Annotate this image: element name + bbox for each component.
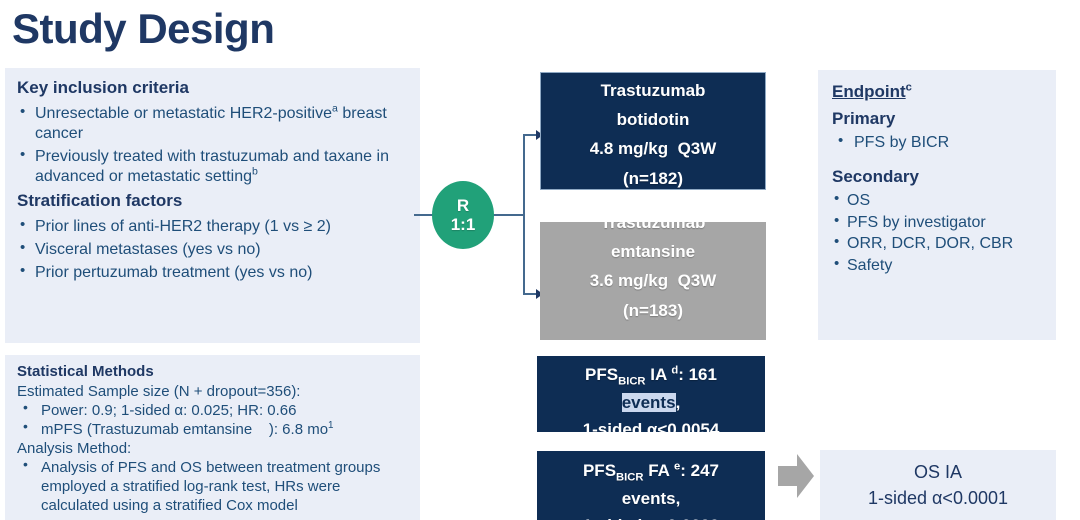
list-item: Visceral metastases (yes vs no) <box>17 240 408 260</box>
stratification-list: Prior lines of anti-HER2 therapy (1 vs ≥… <box>17 217 408 283</box>
arm-line: (n=182) <box>541 164 765 190</box>
connector-line-in <box>414 214 434 216</box>
list-item: OS <box>832 190 1042 212</box>
analysis-line: PFSBICR FA e: 247 <box>537 457 765 485</box>
arm-line: Trastuzumab <box>541 76 765 105</box>
sample-size-list: Power: 0.9; 1-sided α: 0.025; HR: 0.66 m… <box>17 401 408 439</box>
statistical-methods-panel: Statistical Methods Estimated Sample siz… <box>5 355 420 520</box>
list-item: Unresectable or metastatic HER2-positive… <box>17 104 408 144</box>
list-item: Analysis of PFS and OS between treatment… <box>17 458 408 515</box>
endpoints-title-text: Endpoint <box>832 82 906 101</box>
arm-line: emtansine <box>540 237 766 266</box>
primary-endpoint-list: PFS by BICR <box>832 132 1042 154</box>
right-arrow-icon <box>778 452 814 500</box>
list-item: Power: 0.9; 1-sided α: 0.025; HR: 0.66 <box>17 401 408 420</box>
endpoints-panel: Endpointc Primary PFS by BICR Secondary … <box>818 70 1056 340</box>
arm-line: 3.6 mg/kg Q3W <box>540 266 766 295</box>
os-ia-line: OS IA <box>914 459 962 485</box>
analysis-line: events, <box>537 389 765 417</box>
analysis-line: 1-sided α<0.0229 <box>537 512 765 520</box>
arm-line: botidotin <box>541 105 765 134</box>
analysis-method-list: Analysis of PFS and OS between treatment… <box>17 458 408 515</box>
inclusion-heading: Key inclusion criteria <box>17 78 408 98</box>
endpoints-title: Endpointc <box>832 82 1042 102</box>
list-item: ORR, DCR, DOR, CBR <box>832 233 1042 255</box>
arm-line: (n=183) <box>540 296 766 325</box>
arm-line: Trastuzumab <box>540 222 766 237</box>
experimental-arm-box: Trastuzumab botidotin 4.8 mg/kg Q3W (n=1… <box>540 72 766 190</box>
list-item: mPFS (Trastuzumab emtansine ): 6.8 mo1 <box>17 420 408 439</box>
pfs-bicr-final-analysis-box: PFSBICR FA e: 247 events, 1-sided α<0.02… <box>537 451 765 520</box>
list-item: Previously treated with trastuzumab and … <box>17 147 408 187</box>
primary-endpoint-heading: Primary <box>832 109 1042 129</box>
list-item: PFS by investigator <box>832 212 1042 234</box>
stratification-heading: Stratification factors <box>17 191 408 211</box>
analysis-line: events, <box>537 485 765 513</box>
study-design-slide: Study Design Key inclusion criteria Unre… <box>0 0 1080 520</box>
secondary-endpoint-list: OS PFS by investigator ORR, DCR, DOR, CB… <box>832 190 1042 277</box>
pfs-bicr-interim-analysis-box: PFSBICR IA d: 161 events, 1-sided α<0.00… <box>537 356 765 432</box>
os-interim-analysis-box: OS IA 1-sided α<0.0001 <box>820 450 1056 520</box>
connector-line-out <box>492 214 524 216</box>
sample-size-line: Estimated Sample size (N + dropout=356): <box>17 382 408 401</box>
comparator-arm-box: Trastuzumab emtansine 3.6 mg/kg Q3W (n=1… <box>540 222 766 340</box>
os-ia-line: 1-sided α<0.0001 <box>868 485 1008 511</box>
connector-line-vertical <box>523 135 525 295</box>
analysis-line: PFSBICR IA d: 161 <box>537 361 765 389</box>
secondary-endpoint-heading: Secondary <box>832 167 1042 187</box>
randomization-ratio: 1:1 <box>451 215 476 234</box>
list-item: Prior lines of anti-HER2 therapy (1 vs ≥… <box>17 217 408 237</box>
list-item: Prior pertuzumab treatment (yes vs no) <box>17 263 408 283</box>
statistical-methods-heading: Statistical Methods <box>17 363 408 380</box>
page-title: Study Design <box>12 6 274 52</box>
list-item: PFS by BICR <box>832 132 1042 154</box>
list-item: Safety <box>832 255 1042 277</box>
randomization-node: R 1:1 <box>432 181 494 249</box>
analysis-line: 1-sided α<0.0054 <box>537 416 765 432</box>
inclusion-criteria-panel: Key inclusion criteria Unresectable or m… <box>5 68 420 343</box>
spacer <box>832 154 1042 167</box>
arm-line: 4.8 mg/kg Q3W <box>541 134 765 163</box>
inclusion-list: Unresectable or metastatic HER2-positive… <box>17 104 408 188</box>
randomization-label: R <box>457 196 469 215</box>
endpoints-title-superscript: c <box>906 81 912 93</box>
analysis-method-line: Analysis Method: <box>17 439 408 458</box>
